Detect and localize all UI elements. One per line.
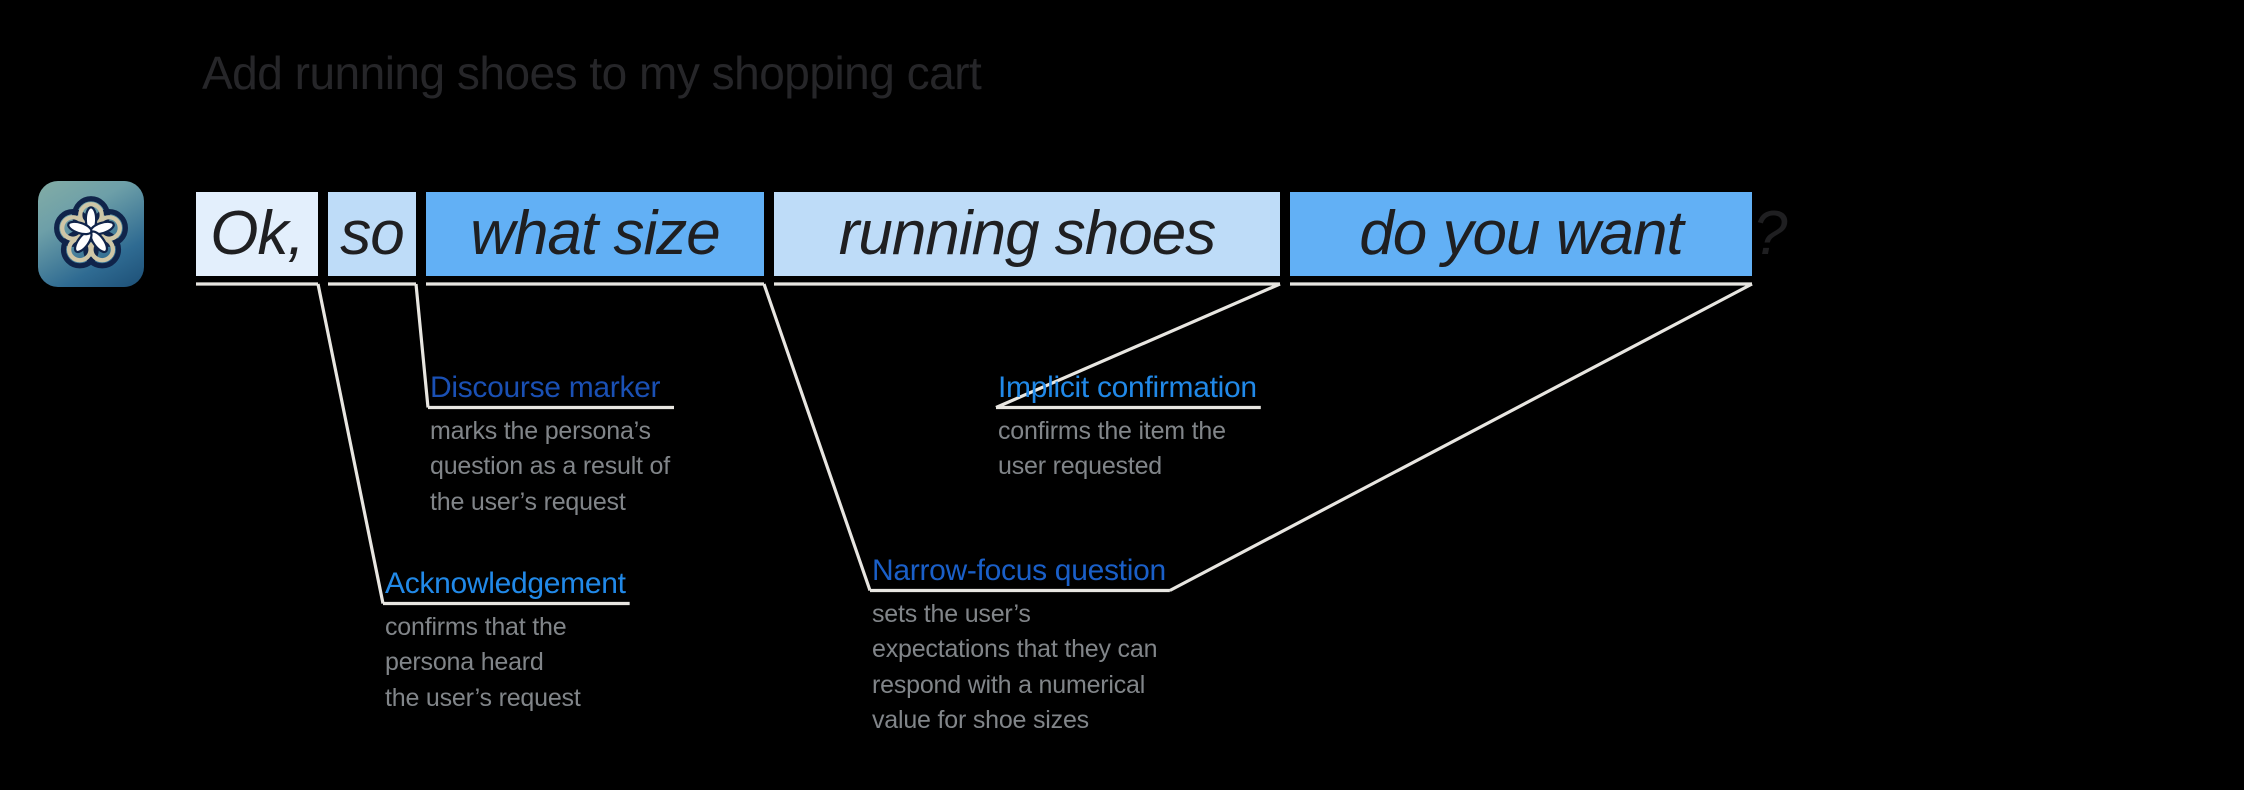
- annotation-acknowledgement: Acknowledgement confirms that the person…: [385, 568, 626, 716]
- annotation-implicit-confirmation: Implicit confirmation confirms the item …: [998, 372, 1257, 485]
- annotation-discourse-marker: Discourse marker marks the persona’s que…: [430, 372, 670, 520]
- annotation-title: Implicit confirmation: [998, 372, 1257, 404]
- utterance-segment-what-size[interactable]: what size: [426, 192, 764, 276]
- utterance-segment-do-you-want[interactable]: do you want: [1290, 192, 1752, 276]
- segment-gap: [764, 192, 774, 276]
- segment-gap: [1280, 192, 1290, 276]
- annotation-title: Discourse marker: [430, 372, 670, 404]
- utterance-question-mark: ?: [1752, 192, 1786, 276]
- annotation-body: sets the user’s expectations that they c…: [872, 597, 1166, 739]
- utterance-segment-ok[interactable]: Ok,: [196, 192, 318, 276]
- segment-gap: [318, 192, 328, 276]
- annotation-narrow-focus-question: Narrow-focus question sets the user’s ex…: [872, 555, 1166, 739]
- annotation-body: confirms that the persona heard the user…: [385, 610, 626, 717]
- page-title: Add running shoes to my shopping cart: [202, 46, 981, 100]
- utterance-segment-so[interactable]: so: [328, 192, 416, 276]
- utterance-row: Ok, so what size running shoes do you wa…: [196, 192, 1786, 276]
- annotation-body: marks the persona’s question as a result…: [430, 414, 670, 521]
- segment-gap: [416, 192, 426, 276]
- annotation-body: confirms the item the user requested: [998, 414, 1257, 485]
- diagram-canvas: Add running shoes to my shopping cart: [0, 0, 2244, 790]
- annotation-title: Acknowledgement: [385, 568, 626, 600]
- annotation-title: Narrow-focus question: [872, 555, 1166, 587]
- utterance-segment-running-shoes[interactable]: running shoes: [774, 192, 1280, 276]
- persona-avatar: [38, 181, 144, 287]
